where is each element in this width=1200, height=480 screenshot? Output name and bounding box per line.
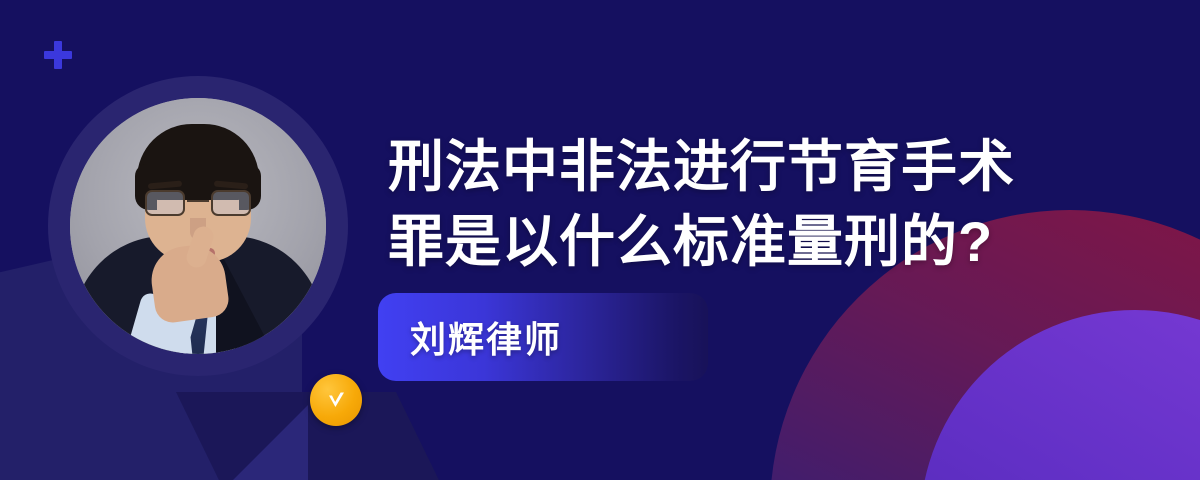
- portrait-lens-right: [211, 190, 251, 216]
- avatar-photo: [70, 98, 326, 354]
- portrait-lens-left: [145, 190, 185, 216]
- portrait-glasses-bridge: [187, 200, 209, 202]
- plus-icon: [44, 41, 72, 69]
- page-title: 刑法中非法进行节育手术 罪是以什么标准量刑的?: [388, 129, 1078, 279]
- verified-check-icon: [310, 374, 362, 426]
- portrait-glasses: [142, 190, 254, 216]
- avatar: [48, 76, 348, 376]
- lawyer-name-label: 刘辉律师: [410, 311, 562, 363]
- lawyer-name-pill[interactable]: 刘辉律师: [378, 293, 708, 381]
- lawyer-question-banner: 刑法中非法进行节育手术 罪是以什么标准量刑的? 刘辉律师: [0, 0, 1200, 480]
